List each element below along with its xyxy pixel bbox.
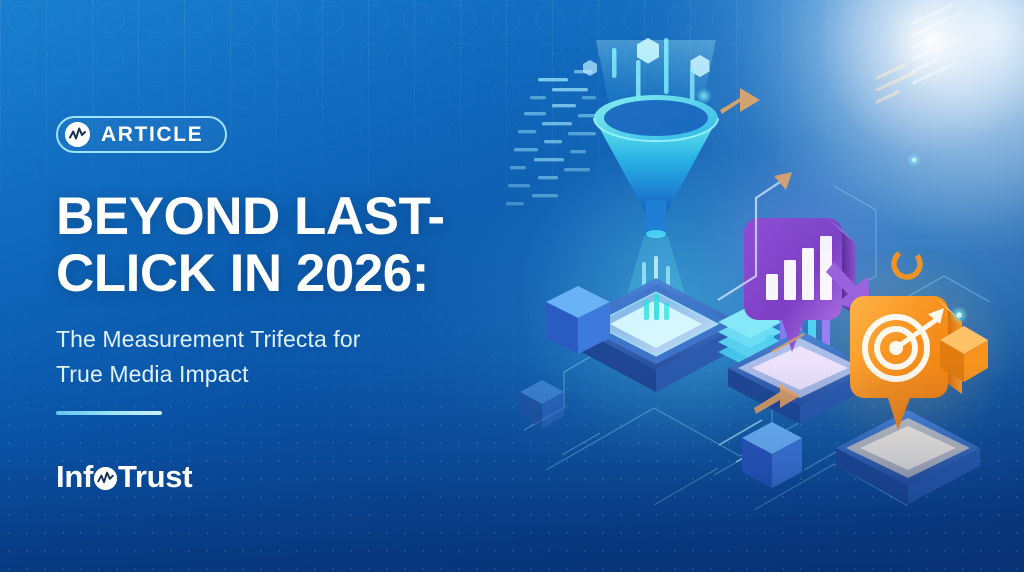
status-badge-label: ARTICLE: [101, 124, 203, 145]
status-badge: ARTICLE: [56, 116, 227, 153]
page-title: BEYOND LAST- CLICK IN 2026:: [56, 188, 526, 302]
infotrust-logo: Inf Trust: [56, 461, 192, 492]
page-subtitle-line-2: True Media Impact: [56, 357, 486, 392]
page-subtitle-line-1: The Measurement Trifecta for: [56, 322, 486, 357]
article-hero-banner: ARTICLE BEYOND LAST- CLICK IN 2026: The …: [0, 0, 1024, 572]
hero-content: ARTICLE BEYOND LAST- CLICK IN 2026: The …: [56, 0, 526, 572]
logo-text-before: Inf: [56, 461, 93, 492]
pulse-chart-circle-icon: [65, 122, 90, 147]
page-subtitle: The Measurement Trifecta for True Media …: [56, 322, 486, 392]
pulse-chart-circle-icon: [94, 467, 117, 490]
divider: [56, 411, 162, 415]
logo-text-after: Trust: [118, 461, 192, 492]
page-title-line-2: CLICK IN 2026:: [56, 245, 526, 302]
page-title-line-1: BEYOND LAST-: [56, 188, 526, 245]
